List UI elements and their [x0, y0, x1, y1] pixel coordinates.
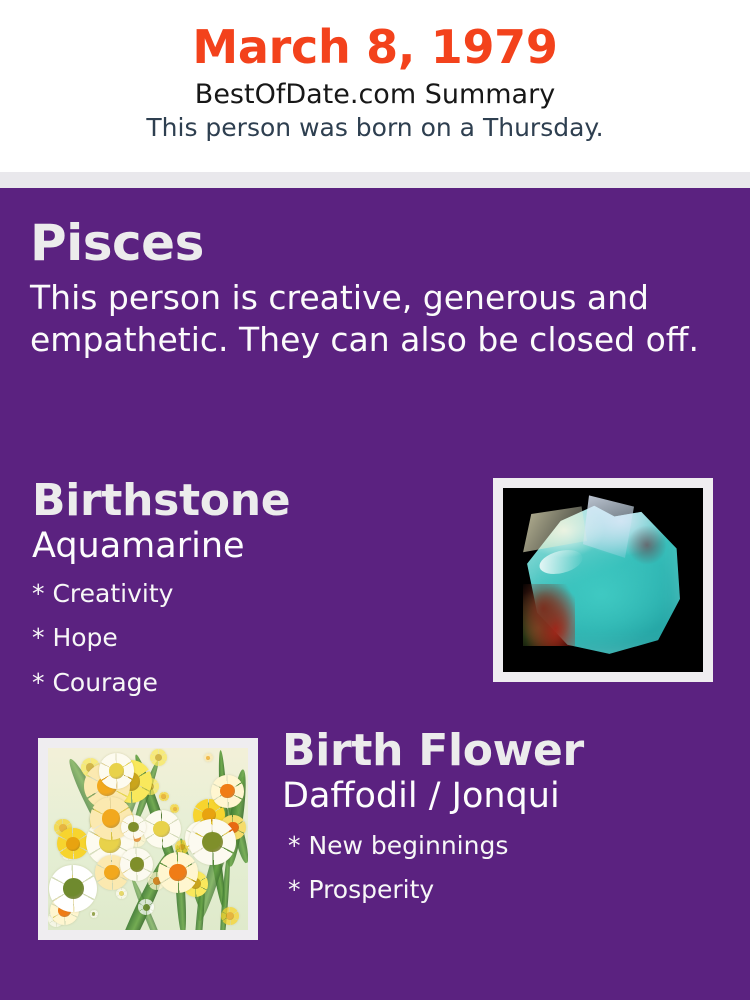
list-item: * Courage [32, 661, 462, 706]
corona-icon [202, 832, 222, 852]
list-item: * Prosperity [288, 868, 722, 913]
birthstone-name: Aquamarine [32, 527, 462, 566]
birth-flower-section: Birth Flower Daffodil / Jonqui * New beg… [282, 728, 722, 913]
corona-icon [104, 865, 119, 880]
daffodil-bloom-icon [138, 899, 154, 915]
birthstone-image [503, 488, 703, 672]
birthstone-image-frame [493, 478, 713, 682]
corona-icon [102, 809, 121, 828]
corona-icon [161, 794, 165, 798]
daffodil-bloom-icon [99, 753, 135, 789]
daffodil-bloom-icon [189, 819, 235, 865]
birth-flower-name: Daffodil / Jonqui [282, 777, 722, 816]
daffodil-bloom-icon [159, 792, 169, 802]
corona-icon [143, 904, 150, 911]
corona-icon [119, 891, 124, 896]
list-item: * Hope [32, 616, 462, 661]
daffodil-bloom-icon [57, 828, 88, 859]
corona-icon [109, 763, 125, 779]
corona-icon [128, 822, 139, 833]
page-title-date: March 8, 1979 [0, 22, 750, 74]
header-divider [0, 172, 750, 188]
zodiac-section: Pisces This person is creative, generous… [30, 216, 720, 361]
birth-day-note: This person was born on a Thursday. [0, 112, 750, 143]
daffodil-bloom-icon [211, 775, 244, 808]
daffodil-bloom-icon [204, 753, 213, 762]
corona-icon [130, 857, 145, 872]
gem-backdrop [503, 488, 703, 672]
birth-flower-image [48, 748, 248, 930]
list-item: * New beginnings [288, 824, 722, 869]
birth-flower-image-frame [38, 738, 258, 940]
corona-icon [173, 807, 177, 811]
daffodil-bloom-icon [150, 749, 167, 766]
birth-flower-heading: Birth Flower [282, 728, 722, 775]
daffodil-bloom-icon [90, 910, 98, 918]
list-item: * Creativity [32, 572, 462, 617]
card-header: March 8, 1979 BestOfDate.com Summary Thi… [0, 0, 750, 172]
corona-icon [63, 878, 84, 899]
daffodil-bloom-icon [221, 907, 240, 926]
site-summary-label: BestOfDate.com Summary [0, 78, 750, 112]
daffodil-bloom-icon [49, 865, 96, 912]
corona-icon [169, 864, 187, 882]
birth-flower-trait-list: * New beginnings * Prosperity [282, 824, 722, 913]
birthstone-section: Birthstone Aquamarine * Creativity * Hop… [32, 478, 462, 705]
zodiac-sign-title: Pisces [30, 216, 720, 271]
daffodil-bloom-icon [121, 815, 146, 840]
daffodil-bloom-icon [120, 848, 153, 881]
zodiac-description: This person is creative, generous and em… [30, 277, 700, 361]
birthstone-trait-list: * Creativity * Hope * Courage [32, 572, 462, 706]
gem-inclusion-icon [523, 584, 575, 647]
bestofdate-summary-card: March 8, 1979 BestOfDate.com Summary Thi… [0, 0, 750, 1000]
gem-inclusion-icon [627, 525, 667, 565]
daffodil-bloom-icon [116, 888, 127, 899]
daffodil-bloom-icon [143, 810, 181, 848]
birthstone-heading: Birthstone [32, 478, 462, 525]
corona-icon [226, 912, 234, 920]
daffodil-field-icon [48, 748, 248, 930]
corona-icon [66, 837, 80, 851]
daffodil-bloom-icon [158, 852, 198, 892]
